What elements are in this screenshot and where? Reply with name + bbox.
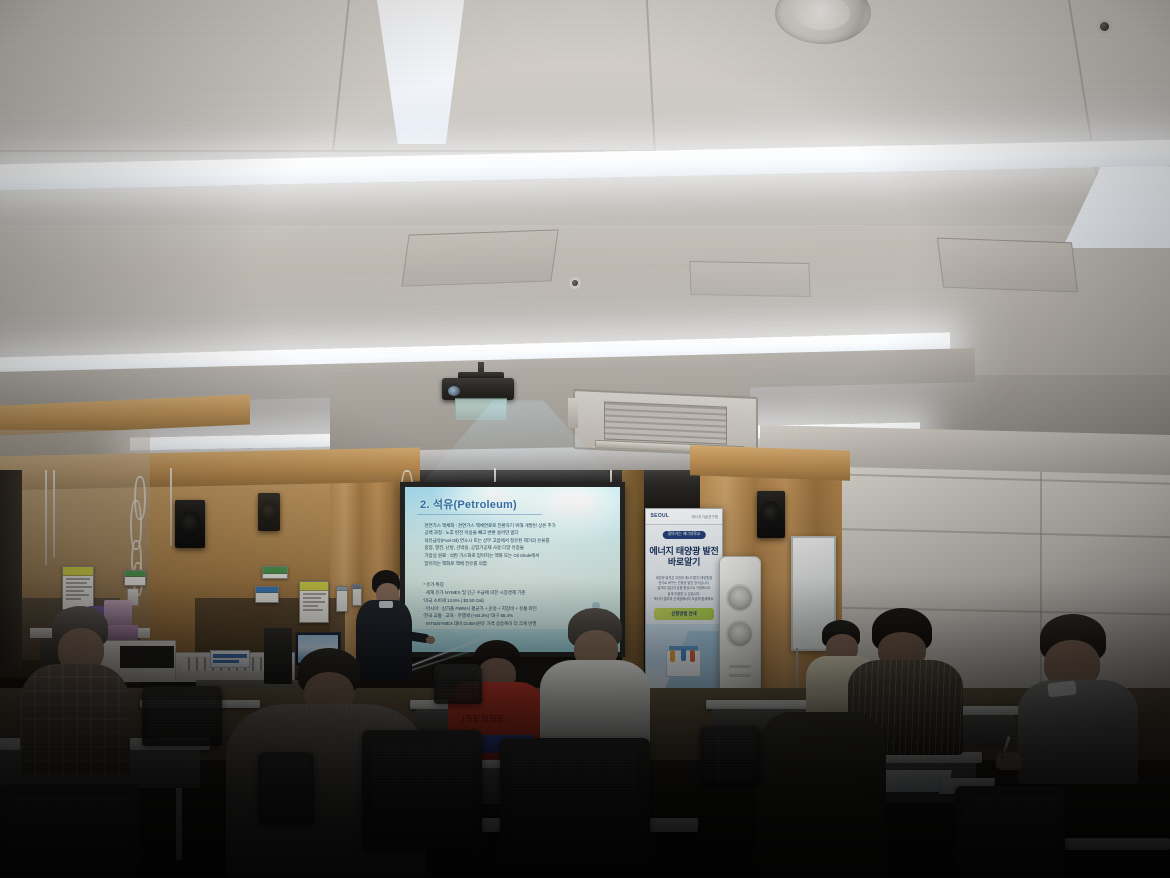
ceiling-vent xyxy=(937,238,1078,293)
banner-headline-line1: 에너지 태양광 발전 xyxy=(646,546,722,558)
slide-body-line: 공백 과정 : 노후 탄전 이용을 빼고 변환 용어만 없다 xyxy=(424,529,605,536)
wall-speaker xyxy=(175,500,205,548)
ceiling-power-drop xyxy=(170,468,172,546)
ceiling-power-drop-loop xyxy=(134,476,146,520)
slide-body-line: 얻어지는 액화로 액체 전유를 의함 xyxy=(424,560,605,567)
projector-shade xyxy=(455,398,507,420)
banner-logo: SEOUL xyxy=(651,513,670,519)
banner-tag: 찾아가는 에너지학교 xyxy=(663,531,706,539)
smoke-detector-icon xyxy=(1100,22,1109,31)
slide-body-line: 가압상 원료 : 석탄 가스화로 얻어지는 액화 또는 Oil Shale에서 xyxy=(424,552,605,559)
banner-headline: 에너지 태양광 발전 바로알기 xyxy=(646,546,722,569)
chair xyxy=(362,730,482,850)
attendee-torso xyxy=(1018,680,1138,784)
wall-notice-blue xyxy=(255,586,279,603)
attendee-white-shirt xyxy=(540,608,650,753)
projector-lens-icon xyxy=(448,386,460,396)
chair xyxy=(142,686,222,746)
slide-sub-line: * 유가 특징 xyxy=(423,581,608,588)
wall-speaker xyxy=(757,491,785,538)
ceiling-power-drop xyxy=(53,470,55,558)
presenter-hand xyxy=(426,636,435,644)
attendee-grey-suit xyxy=(1018,614,1138,784)
banner-cta: 신청방법 안내 xyxy=(654,608,715,620)
ac-pipe xyxy=(568,398,578,428)
door-frame xyxy=(0,470,22,670)
wall-notice-small xyxy=(336,586,348,612)
chair xyxy=(500,738,650,868)
attendee-hand xyxy=(996,752,1022,770)
slide-title: 2. 석유(Petroleum) xyxy=(420,496,517,512)
banner-illustration xyxy=(646,624,722,689)
rollup-banner: SEOUL 에너지기술연구원 찾아가는 에너지학교 에너지 태양광 발전 바로알… xyxy=(645,508,723,690)
presenter-collar xyxy=(379,601,393,608)
attendee-plaid-shirt xyxy=(20,606,130,776)
wall-notice-yellow-2 xyxy=(299,581,329,623)
chair xyxy=(434,664,482,704)
banner-body: 태양광 발전은 무한한 에너지원인 태양빛을 전기로 바꾸는 친환경 발전 방식… xyxy=(652,576,716,603)
slide-title-rule xyxy=(417,514,542,515)
chair xyxy=(258,752,314,824)
standing-air-conditioner xyxy=(719,556,761,708)
banner-body-line: 에너지 절약과 신재생에너지 보급에 함께해요. xyxy=(652,597,716,602)
attendee-torso xyxy=(756,712,886,878)
ceiling-vent xyxy=(689,261,810,297)
wall-notice-green xyxy=(124,570,146,586)
wall-notice-green-2 xyxy=(262,566,288,579)
desk-leg xyxy=(176,788,182,860)
banner-logo-sub: 에너지기술연구원 xyxy=(692,514,719,519)
slide-body-line: 천연가스 액체화 : 천연가스 액체연료로 전환하기 위해 개발된 상온 추가 xyxy=(424,522,605,529)
slide-sub-line: '미국 소비세 13.8% ( $3.50 Gal) xyxy=(423,597,608,604)
attendee-torso xyxy=(20,664,130,776)
chair xyxy=(955,786,1065,878)
attendee-collar xyxy=(1047,681,1076,698)
jacket-logo-text: iSENBE xyxy=(462,714,505,725)
slide-body: 천연가스 액체화 : 천연가스 액체연료로 전환하기 위해 개발된 상온 추가 … xyxy=(424,522,605,568)
attendee-dark-shirt xyxy=(756,712,886,878)
wall-speaker xyxy=(258,493,280,531)
lecture-room-photo: 2. 석유(Petroleum) 천연가스 액체화 : 천연가스 액체연료로 전… xyxy=(0,0,1170,878)
ceiling-power-drop xyxy=(45,470,47,565)
smoke-detector-icon xyxy=(572,280,578,286)
chair xyxy=(700,726,760,786)
wall-notice-yellow xyxy=(62,566,94,610)
chair xyxy=(0,786,140,878)
slide-sub-line: · 세계 유가 NYMEX 및 인근 수급에 의한 시장경제 기준 xyxy=(423,589,608,596)
wood-wall-beam xyxy=(690,445,850,481)
slide-body-line: 중점, 열전, 난방, 선박용, 공업가공재 사용 다양 유종들 xyxy=(424,544,605,551)
whiteboard-leg xyxy=(796,648,798,686)
ceiling-vent xyxy=(401,229,558,286)
slide-body-line: 석유급유(Fuel Oil) 연소시 또는 상부 고압에서 정유된 제거의 유류… xyxy=(424,537,605,544)
banner-headline-line2: 바로알기 xyxy=(646,557,722,569)
banner-cta-label: 신청방법 안내 xyxy=(671,611,696,617)
